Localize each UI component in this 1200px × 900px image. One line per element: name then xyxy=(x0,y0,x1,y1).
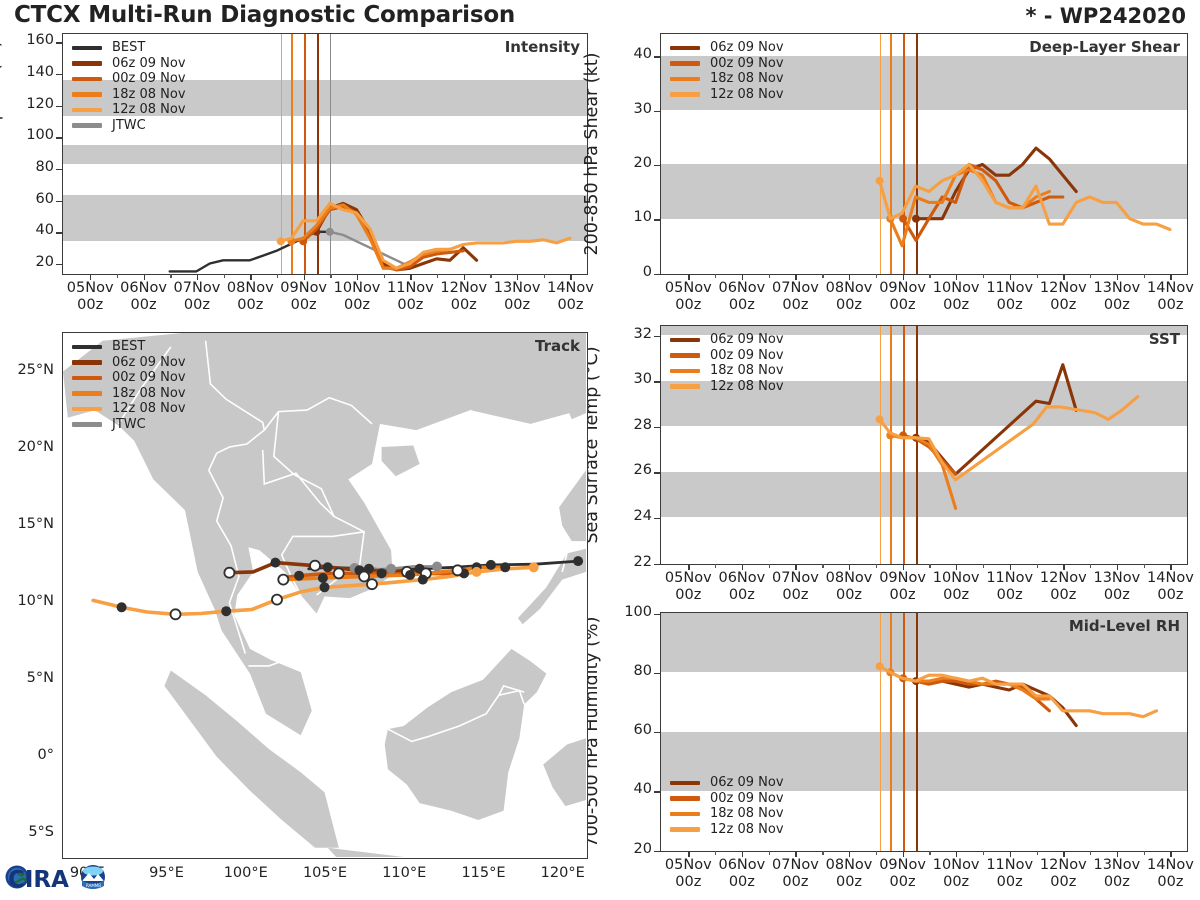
x-tick-date: 12Nov xyxy=(440,280,487,296)
legend-item: 12z 08 Nov xyxy=(670,379,784,395)
x-tick-date: 08Nov xyxy=(826,857,873,873)
x-tick-mark-minor xyxy=(822,851,823,855)
legend-label: 12z 08 Nov xyxy=(710,380,784,393)
x-tick-date: 07Nov xyxy=(772,570,819,586)
page-title: CTCX Multi-Run Diagnostic Comparison xyxy=(14,2,515,28)
track-point-marker xyxy=(453,565,463,575)
x-tick-hour: 00z xyxy=(943,874,969,890)
legend-item: 00z 09 Nov xyxy=(72,370,186,386)
x-tick-label: 14Nov00z xyxy=(1136,857,1200,891)
track-point-marker xyxy=(573,556,583,566)
series-line xyxy=(880,397,1138,480)
track-point-marker xyxy=(270,558,280,568)
series-start-marker xyxy=(876,662,884,670)
landmass xyxy=(543,738,586,806)
series-line xyxy=(916,681,1076,726)
x-tick-label: 14Nov00z xyxy=(1136,280,1200,314)
map-x-tick-label: 120°E xyxy=(523,865,603,882)
legend-label: 18z 08 Nov xyxy=(112,88,186,101)
x-tick-date: 14Nov xyxy=(1147,280,1194,296)
legend-swatch xyxy=(670,338,700,343)
panel-sst: SST06z 09 Nov00z 09 Nov18z 08 Nov12z 08 … xyxy=(660,325,1188,565)
x-tick-mark-minor xyxy=(769,851,770,855)
map-x-tick-label: 110°E xyxy=(364,865,444,882)
series-line xyxy=(890,435,955,508)
x-tick-mark-minor xyxy=(769,564,770,568)
y-tick-mark xyxy=(654,673,660,674)
legend-swatch xyxy=(72,77,102,82)
legend-swatch xyxy=(670,77,700,82)
legend-swatch xyxy=(670,812,700,817)
x-tick-hour: 00z xyxy=(1104,874,1130,890)
legend-swatch xyxy=(72,46,102,51)
diagnostic-comparison-page: CTCX Multi-Run Diagnostic Comparison * -… xyxy=(0,0,1200,900)
legend-swatch xyxy=(72,360,102,365)
x-tick-mark-minor xyxy=(929,851,930,855)
panel-title: SST xyxy=(1149,330,1180,348)
x-tick-label: 14Nov00z xyxy=(1136,570,1200,604)
y-tick-mark xyxy=(654,165,660,166)
track-point-marker xyxy=(272,595,282,605)
y-tick-label: 140 xyxy=(8,64,54,80)
y-tick-mark xyxy=(56,232,62,233)
landmass xyxy=(164,671,338,848)
x-tick-hour: 00z xyxy=(504,297,530,313)
track-point-marker xyxy=(318,573,328,583)
y-tick-mark xyxy=(56,201,62,202)
legend-label: 12z 08 Nov xyxy=(710,88,784,101)
x-tick-mark-minor xyxy=(715,851,716,855)
y-tick-mark xyxy=(654,564,660,565)
y-tick-label: 40 xyxy=(606,781,652,797)
y-axis-label: 10m Max Wind Speed (kt) xyxy=(0,40,4,267)
x-tick-hour: 00z xyxy=(557,297,583,313)
legend-item: 12z 08 Nov xyxy=(72,102,186,118)
series-line xyxy=(281,203,570,268)
chart-legend: 06z 09 Nov00z 09 Nov18z 08 Nov12z 08 Nov xyxy=(670,775,784,837)
x-tick-hour: 00z xyxy=(943,297,969,313)
x-tick-date: 11Nov xyxy=(986,857,1033,873)
track-point-marker xyxy=(323,562,333,572)
x-tick-date: 09Nov xyxy=(879,857,926,873)
series-start-marker xyxy=(876,177,884,185)
x-tick-hour: 00z xyxy=(890,587,916,603)
series-start-marker xyxy=(326,228,334,236)
x-tick-date: 08Nov xyxy=(826,570,873,586)
x-tick-hour: 00z xyxy=(836,874,862,890)
x-tick-mark-minor xyxy=(983,851,984,855)
legend-label: 06z 09 Nov xyxy=(710,333,784,346)
panel-title: Intensity xyxy=(505,38,580,56)
legend-swatch xyxy=(670,796,700,801)
x-tick-mark-minor xyxy=(170,274,171,278)
y-tick-mark xyxy=(56,137,62,138)
track-point-marker xyxy=(221,606,231,616)
y-tick-label: 32 xyxy=(606,326,652,342)
legend-item: 18z 08 Nov xyxy=(670,71,784,87)
x-tick-hour: 00z xyxy=(836,587,862,603)
legend-label: BEST xyxy=(112,41,145,54)
y-tick-mark xyxy=(654,111,660,112)
x-tick-mark-minor xyxy=(822,274,823,278)
x-tick-date: 05Nov xyxy=(665,280,712,296)
x-tick-mark-minor xyxy=(544,274,545,278)
x-tick-mark-minor xyxy=(224,274,225,278)
track-point-marker xyxy=(405,570,415,580)
legend-swatch xyxy=(72,92,102,97)
x-tick-date: 07Nov xyxy=(772,857,819,873)
x-tick-hour: 00z xyxy=(451,297,477,313)
x-tick-hour: 00z xyxy=(1104,297,1130,313)
x-tick-date: 10Nov xyxy=(334,280,381,296)
x-tick-mark-minor xyxy=(437,274,438,278)
track-point-marker xyxy=(500,562,510,572)
x-tick-date: 14Nov xyxy=(1147,570,1194,586)
x-tick-mark-minor xyxy=(1037,274,1038,278)
x-tick-hour: 00z xyxy=(1157,874,1183,890)
map-y-tick-label: 0° xyxy=(4,747,54,763)
x-tick-date: 06Nov xyxy=(718,570,765,586)
y-tick-mark xyxy=(56,106,62,107)
x-tick-date: 10Nov xyxy=(933,857,980,873)
legend-item: 06z 09 Nov xyxy=(72,56,186,72)
legend-item: 06z 09 Nov xyxy=(670,775,784,791)
y-tick-label: 80 xyxy=(8,159,54,175)
x-tick-hour: 00z xyxy=(344,297,370,313)
x-tick-hour: 00z xyxy=(782,874,808,890)
y-tick-mark xyxy=(654,518,660,519)
map-x-tick-label: 100°E xyxy=(206,865,286,882)
x-tick-hour: 00z xyxy=(943,587,969,603)
track-point-marker xyxy=(117,602,127,612)
x-tick-date: 13Nov xyxy=(1093,857,1140,873)
x-tick-hour: 00z xyxy=(890,297,916,313)
y-tick-label: 28 xyxy=(606,417,652,433)
legend-swatch xyxy=(72,422,102,427)
x-tick-hour: 00z xyxy=(184,297,210,313)
x-tick-date: 11Nov xyxy=(986,570,1033,586)
legend-item: 06z 09 Nov xyxy=(670,332,784,348)
x-tick-hour: 00z xyxy=(237,297,263,313)
legend-item: 18z 08 Nov xyxy=(670,806,784,822)
map-x-tick-label: 95°E xyxy=(127,865,207,882)
y-tick-label: 40 xyxy=(8,222,54,238)
y-tick-mark xyxy=(654,381,660,382)
x-tick-date: 06Nov xyxy=(718,280,765,296)
legend-label: 00z 09 Nov xyxy=(112,72,186,85)
panel-title: Track xyxy=(535,337,580,355)
x-tick-hour: 00z xyxy=(997,297,1023,313)
legend-swatch xyxy=(72,391,102,396)
x-tick-mark-minor xyxy=(983,564,984,568)
track-point-marker xyxy=(529,562,539,572)
panel-title: Mid-Level RH xyxy=(1069,617,1180,635)
x-tick-hour: 00z xyxy=(836,297,862,313)
x-tick-date: 09Nov xyxy=(280,280,327,296)
track-point-marker xyxy=(320,582,330,592)
y-tick-label: 60 xyxy=(606,722,652,738)
legend-label: JTWC xyxy=(112,418,146,431)
x-tick-mark-minor xyxy=(983,274,984,278)
track-point-marker xyxy=(472,567,482,577)
x-tick-hour: 00z xyxy=(675,297,701,313)
x-tick-mark-minor xyxy=(715,274,716,278)
legend-label: 18z 08 Nov xyxy=(710,807,784,820)
x-tick-hour: 00z xyxy=(77,297,103,313)
y-tick-mark xyxy=(654,732,660,733)
y-tick-label: 80 xyxy=(606,663,652,679)
track-point-marker xyxy=(377,568,387,578)
map-y-tick-label: 25°N xyxy=(4,362,54,378)
chart-legend: 06z 09 Nov00z 09 Nov18z 08 Nov12z 08 Nov xyxy=(670,332,784,394)
legend-label: 18z 08 Nov xyxy=(112,387,186,400)
x-tick-hour: 00z xyxy=(729,874,755,890)
legend-label: 12z 08 Nov xyxy=(112,402,186,415)
legend-swatch xyxy=(72,108,102,113)
legend-swatch xyxy=(670,384,700,389)
x-tick-date: 11Nov xyxy=(986,280,1033,296)
series-start-marker xyxy=(876,415,884,423)
x-tick-hour: 00z xyxy=(1050,587,1076,603)
y-tick-mark xyxy=(654,851,660,852)
legend-item: 06z 09 Nov xyxy=(72,355,186,371)
track-point-marker xyxy=(171,609,181,619)
x-tick-mark-minor xyxy=(277,274,278,278)
x-tick-date: 13Nov xyxy=(1093,570,1140,586)
legend-item: 18z 08 Nov xyxy=(670,363,784,379)
x-tick-mark-minor xyxy=(822,564,823,568)
x-tick-hour: 00z xyxy=(997,874,1023,890)
y-tick-label: 0 xyxy=(606,264,652,280)
map-x-tick-label: 115°E xyxy=(443,865,523,882)
x-tick-mark-minor xyxy=(117,274,118,278)
x-tick-date: 05Nov xyxy=(665,570,712,586)
x-tick-hour: 00z xyxy=(675,874,701,890)
y-tick-mark xyxy=(654,336,660,337)
legend-label: 00z 09 Nov xyxy=(710,792,784,805)
legend-item: 00z 09 Nov xyxy=(670,56,784,72)
legend-item: BEST xyxy=(72,339,186,355)
map-y-tick-label: 20°N xyxy=(4,439,54,455)
track-point-marker xyxy=(432,562,442,572)
y-tick-label: 30 xyxy=(606,371,652,387)
x-tick-mark-minor xyxy=(1090,851,1091,855)
y-tick-label: 26 xyxy=(606,462,652,478)
y-tick-mark xyxy=(654,219,660,220)
legend-label: 06z 09 Nov xyxy=(112,356,186,369)
y-tick-label: 24 xyxy=(606,508,652,524)
y-tick-label: 160 xyxy=(8,32,54,48)
legend-swatch xyxy=(670,781,700,786)
legend-swatch xyxy=(72,407,102,412)
x-tick-date: 12Nov xyxy=(1040,280,1087,296)
y-tick-mark xyxy=(56,264,62,265)
legend-swatch xyxy=(670,353,700,358)
legend-swatch xyxy=(670,46,700,51)
legend-item: JTWC xyxy=(72,417,186,433)
track-point-marker xyxy=(224,568,234,578)
x-tick-date: 10Nov xyxy=(933,280,980,296)
legend-item: 06z 09 Nov xyxy=(670,40,784,56)
legend-item: BEST xyxy=(72,40,186,56)
y-tick-label: 10 xyxy=(606,209,652,225)
svg-text:CIRA: CIRA xyxy=(8,867,69,893)
x-tick-date: 05Nov xyxy=(67,280,114,296)
x-tick-mark-minor xyxy=(715,564,716,568)
track-point-marker xyxy=(359,572,369,582)
x-tick-hour: 00z xyxy=(890,874,916,890)
x-tick-hour: 00z xyxy=(1050,874,1076,890)
x-tick-mark-minor xyxy=(1144,274,1145,278)
x-tick-mark-minor xyxy=(1090,564,1091,568)
y-tick-mark xyxy=(654,791,660,792)
cira-logo: CIRA RAMMB xyxy=(4,856,116,898)
legend-swatch xyxy=(670,92,700,97)
x-tick-mark-minor xyxy=(929,274,930,278)
y-tick-mark xyxy=(56,74,62,75)
series-line xyxy=(880,666,1157,716)
track-point-marker xyxy=(294,571,304,581)
x-tick-date: 08Nov xyxy=(826,280,873,296)
country-border xyxy=(470,410,473,415)
x-tick-date: 06Nov xyxy=(718,857,765,873)
panel-mid-level-rh: Mid-Level RH06z 09 Nov00z 09 Nov18z 08 N… xyxy=(660,612,1188,852)
y-tick-label: 100 xyxy=(606,604,652,620)
y-tick-label: 20 xyxy=(606,155,652,171)
landmass xyxy=(385,649,547,820)
legend-swatch xyxy=(670,827,700,832)
x-tick-hour: 00z xyxy=(675,587,701,603)
series-start-marker xyxy=(277,237,285,245)
legend-label: 12z 08 Nov xyxy=(112,103,186,116)
x-tick-date: 14Nov xyxy=(1147,857,1194,873)
x-tick-date: 10Nov xyxy=(933,570,980,586)
x-tick-hour: 00z xyxy=(1157,587,1183,603)
x-tick-mark-minor xyxy=(490,274,491,278)
x-tick-mark-minor xyxy=(330,274,331,278)
y-tick-mark xyxy=(654,427,660,428)
x-tick-hour: 00z xyxy=(1104,587,1130,603)
x-tick-date: 07Nov xyxy=(772,280,819,296)
panel-title: Deep-Layer Shear xyxy=(1029,38,1180,56)
y-tick-label: 40 xyxy=(606,46,652,62)
x-tick-date: 06Nov xyxy=(120,280,167,296)
track-point-marker xyxy=(334,568,344,578)
x-tick-mark-minor xyxy=(1144,564,1145,568)
legend-swatch xyxy=(670,369,700,374)
x-tick-hour: 00z xyxy=(291,297,317,313)
map-y-tick-label: 5°N xyxy=(4,670,54,686)
x-tick-hour: 00z xyxy=(1050,297,1076,313)
x-tick-mark-minor xyxy=(876,851,877,855)
x-tick-hour: 00z xyxy=(997,587,1023,603)
legend-item: 00z 09 Nov xyxy=(670,791,784,807)
series-start-marker xyxy=(899,215,907,223)
y-tick-mark xyxy=(56,169,62,170)
y-tick-label: 60 xyxy=(8,191,54,207)
x-tick-mark-minor xyxy=(384,274,385,278)
legend-label: 18z 08 Nov xyxy=(710,364,784,377)
x-tick-date: 14Nov xyxy=(547,280,594,296)
map-x-tick-label: 105°E xyxy=(285,865,365,882)
map-y-tick-label: 15°N xyxy=(4,516,54,532)
x-tick-hour: 00z xyxy=(131,297,157,313)
panel-intensity: IntensityBEST06z 09 Nov00z 09 Nov18z 08 … xyxy=(62,33,588,275)
x-tick-date: 05Nov xyxy=(665,857,712,873)
legend-item: 00z 09 Nov xyxy=(670,348,784,364)
track-point-marker xyxy=(310,561,320,571)
svg-text:RAMMB: RAMMB xyxy=(86,883,101,888)
landmass xyxy=(382,446,420,477)
x-tick-hour: 00z xyxy=(782,297,808,313)
x-tick-hour: 00z xyxy=(729,297,755,313)
legend-label: 12z 08 Nov xyxy=(710,823,784,836)
x-tick-hour: 00z xyxy=(397,297,423,313)
x-tick-date: 11Nov xyxy=(387,280,434,296)
legend-label: BEST xyxy=(112,340,145,353)
y-tick-label: 20 xyxy=(8,254,54,270)
x-tick-date: 09Nov xyxy=(879,570,926,586)
y-tick-label: 30 xyxy=(606,101,652,117)
y-tick-mark xyxy=(56,42,62,43)
y-tick-label: 100 xyxy=(8,127,54,143)
chart-legend: 06z 09 Nov00z 09 Nov18z 08 Nov12z 08 Nov xyxy=(670,40,784,102)
legend-swatch xyxy=(72,61,102,66)
track-point-marker xyxy=(418,575,428,585)
y-tick-label: 20 xyxy=(606,841,652,857)
legend-label: 18z 08 Nov xyxy=(710,72,784,85)
y-tick-label: 120 xyxy=(8,96,54,112)
panel-track: TrackBEST06z 09 Nov00z 09 Nov18z 08 Nov1… xyxy=(62,332,588,859)
x-tick-date: 08Nov xyxy=(227,280,274,296)
x-tick-hour: 00z xyxy=(729,587,755,603)
chart-legend: BEST06z 09 Nov00z 09 Nov18z 08 Nov12z 08… xyxy=(72,339,186,432)
legend-label: 06z 09 Nov xyxy=(710,41,784,54)
legend-label: 06z 09 Nov xyxy=(710,776,784,789)
legend-item: 00z 09 Nov xyxy=(72,71,186,87)
x-tick-hour: 00z xyxy=(782,587,808,603)
x-tick-mark-minor xyxy=(1090,274,1091,278)
chart-legend: BEST06z 09 Nov00z 09 Nov18z 08 Nov12z 08… xyxy=(72,40,186,133)
legend-swatch xyxy=(72,376,102,381)
x-tick-mark-minor xyxy=(1144,851,1145,855)
x-tick-date: 13Nov xyxy=(1093,280,1140,296)
track-point-marker xyxy=(486,560,496,570)
legend-swatch xyxy=(72,345,102,350)
track-point-marker xyxy=(386,564,396,574)
legend-swatch xyxy=(670,61,700,66)
x-tick-mark-minor xyxy=(876,274,877,278)
x-tick-date: 12Nov xyxy=(1040,857,1087,873)
y-tick-mark xyxy=(654,614,660,615)
x-tick-mark-minor xyxy=(929,564,930,568)
legend-label: JTWC xyxy=(112,119,146,132)
track-point-marker xyxy=(278,575,288,585)
track-point-marker xyxy=(367,579,377,589)
legend-item: 12z 08 Nov xyxy=(72,401,186,417)
legend-label: 00z 09 Nov xyxy=(710,349,784,362)
legend-item: 18z 08 Nov xyxy=(72,386,186,402)
series-start-marker xyxy=(912,215,920,223)
x-tick-mark-minor xyxy=(769,274,770,278)
landmass xyxy=(559,470,586,541)
legend-item: 12z 08 Nov xyxy=(670,822,784,838)
legend-label: 00z 09 Nov xyxy=(112,371,186,384)
y-tick-mark xyxy=(654,472,660,473)
series-line xyxy=(291,205,450,268)
landmass xyxy=(328,848,475,857)
legend-item: 12z 08 Nov xyxy=(670,87,784,103)
